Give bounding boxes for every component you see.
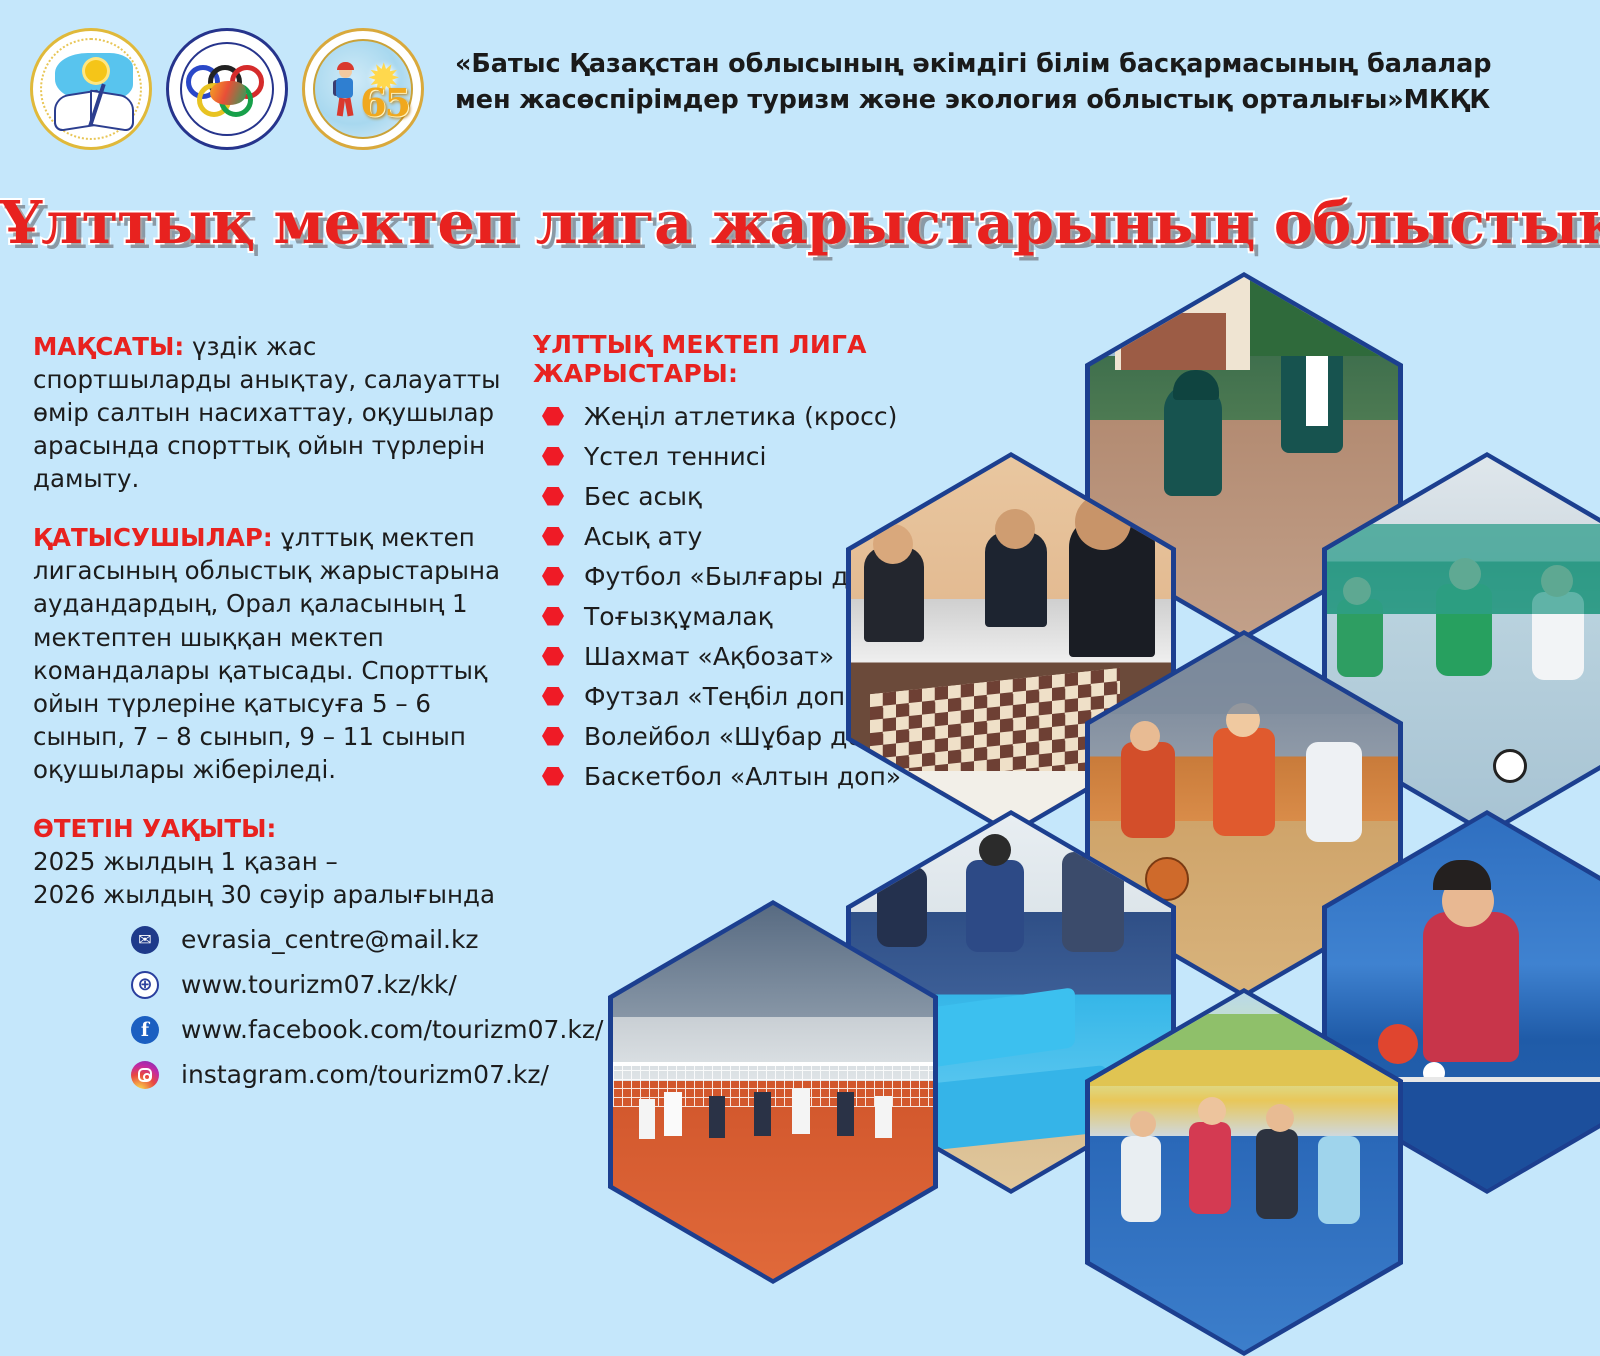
purpose-paragraph: МАҚСАТЫ: үздік жас спортшыларды анықтау,… [33,330,513,495]
sport-label: Шахмат «Ақбозат» [584,642,834,671]
list-item: Үстел теннисі [533,436,1053,476]
contact-item-email[interactable]: ✉ evrasia_centre@mail.kz [131,917,603,962]
list-item: Жеңіл атлетика (кросс) [533,396,1053,436]
anniversary-65-emblem: ✹ 65 [302,28,424,150]
hexagon-bullet-icon [542,447,564,466]
time-label: ӨТЕТІН УАҚЫТЫ: [33,812,513,845]
participants-paragraph: ҚАТЫСУШЫЛАР: ұлттық мектеп лигасының обл… [33,521,513,786]
mail-icon: ✉ [131,926,159,954]
purpose-label: МАҚСАТЫ: [33,332,184,361]
page-title: Ұлттық мектеп лига жарыстарының облыстық… [0,193,1600,252]
hexagon-bullet-icon [542,527,564,546]
participants-text: ұлттық мектеп лигасының облыстық жарыста… [33,523,500,783]
hexagon-bullet-icon [542,607,564,626]
sport-label: Футзал «Теңбіл доп» [584,682,860,711]
sport-label: Үстел теннисі [584,442,766,471]
time-paragraph: ӨТЕТІН УАҚЫТЫ: 2025 жылдың 1 қазан – 202… [33,812,513,911]
sports-list-heading: ҰЛТТЫҚ МЕКТЕП ЛИГА ЖАРЫСТАРЫ: [533,330,1053,388]
emblem-center-graphic [210,81,246,105]
hexagon-bullet-icon [542,407,564,426]
sport-label: Баскетбол «Алтын доп» [584,762,901,791]
anniversary-years: 65 [360,80,409,125]
globe-icon: ⊕ [131,971,159,999]
hexagon-bullet-icon [542,567,564,586]
education-department-emblem [30,28,152,150]
hexagon-bullet-icon [542,647,564,666]
hexagon-bullet-icon [542,767,564,786]
info-column: МАҚСАТЫ: үздік жас спортшыларды анықтау,… [33,330,513,911]
sun-icon [85,60,107,82]
time-line-2: 2026 жылдың 30 сәуір аралығында [33,880,495,909]
organization-name: «Батыс Қазақстан облысының әкімдігі білі… [455,46,1555,118]
contact-item-instagram[interactable]: instagram.com/tourizm07.kz/ [131,1052,603,1097]
contact-instagram-text: instagram.com/tourizm07.kz/ [181,1060,549,1089]
hiker-child-icon [333,65,359,121]
instagram-icon [131,1061,159,1089]
contact-website-text: www.tourizm07.kz/kk/ [181,970,457,999]
hexagon-bullet-icon [542,687,564,706]
sport-department-emblem [166,28,288,150]
sport-label: Асық ату [584,522,702,551]
logo-group: ✹ 65 [30,28,424,150]
sport-label: Бес асық [584,482,702,511]
hexagon-bullet-icon [542,487,564,506]
facebook-icon: f [131,1016,159,1044]
contact-item-website[interactable]: ⊕ www.tourizm07.kz/kk/ [131,962,603,1007]
time-line-1: 2025 жылдың 1 қазан – [33,847,338,876]
contact-list: ✉ evrasia_centre@mail.kz ⊕ www.tourizm07… [131,917,603,1097]
contact-facebook-text: www.facebook.com/tourizm07.kz/ [181,1015,603,1044]
sport-label: Жеңіл атлетика (кросс) [584,402,897,431]
contact-email-text: evrasia_centre@mail.kz [181,925,479,954]
contact-item-facebook[interactable]: f www.facebook.com/tourizm07.kz/ [131,1007,603,1052]
sport-label: Тоғызқұмалақ [584,602,773,631]
hexagon-bullet-icon [542,727,564,746]
participants-label: ҚАТЫСУШЫЛАР: [33,523,273,552]
poster-header: ✹ 65 «Батыс Қазақстан облысының әкімдігі… [0,0,1600,172]
